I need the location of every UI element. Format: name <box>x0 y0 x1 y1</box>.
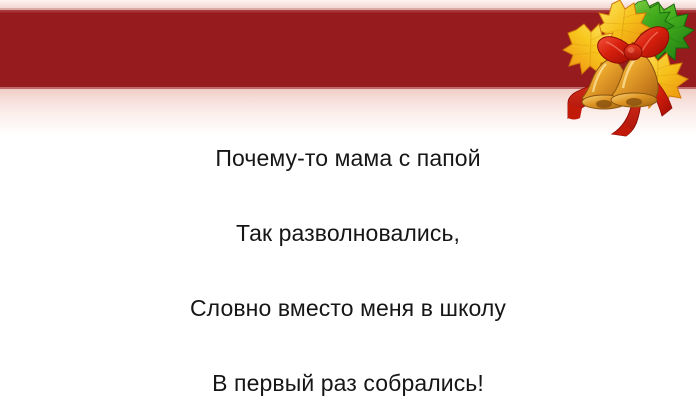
poem-text-block: Почему-то мама с папой Так разволновалис… <box>0 136 696 409</box>
poem-line-2: Так разволновались, <box>0 220 696 247</box>
top-banner <box>0 0 696 136</box>
poem-line-3: Словно вместо меня в школу <box>0 295 696 322</box>
poem-line-4: В первый раз собрались! <box>0 370 696 397</box>
slide-canvas: Почему-то мама с папой Так разволновалис… <box>0 0 696 409</box>
banner-fade-gradient <box>0 89 696 136</box>
banner-red-band <box>0 10 696 87</box>
poem-line-1: Почему-то мама с папой <box>0 145 696 172</box>
banner-top-strip <box>0 0 696 8</box>
banner-band-sheen <box>0 10 696 13</box>
